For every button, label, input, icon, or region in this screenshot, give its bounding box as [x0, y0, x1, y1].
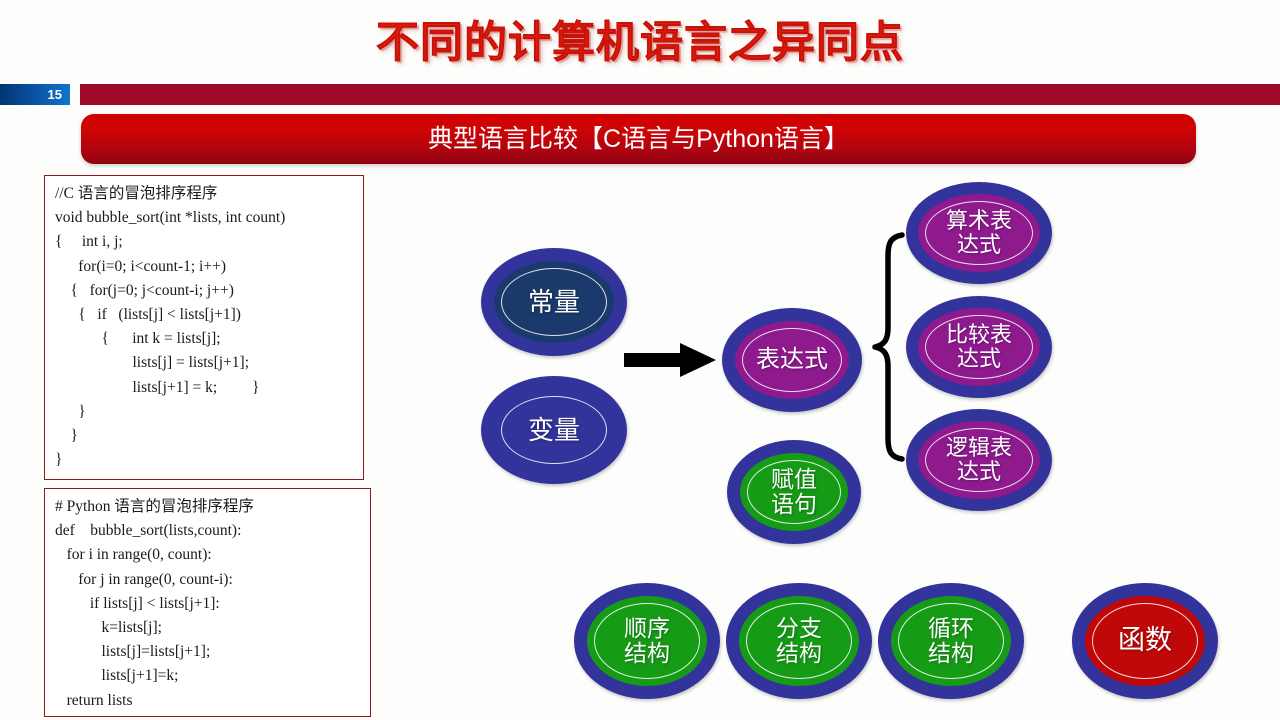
- node-logical-expression[interactable]: 逻辑表达式: [906, 409, 1052, 511]
- c-code-block: //C 语言的冒泡排序程序 void bubble_sort(int *list…: [44, 175, 364, 480]
- page-number-badge: 15: [0, 84, 70, 105]
- node-label: 变量: [524, 416, 584, 444]
- python-code-block: # Python 语言的冒泡排序程序 def bubble_sort(lists…: [44, 488, 371, 717]
- node-variable[interactable]: 变量: [481, 376, 627, 484]
- section-banner-label: 典型语言比较【C语言与Python语言】: [81, 114, 1196, 164]
- right-grouping-brace-icon: [872, 232, 910, 462]
- node-label: 常量: [524, 288, 584, 316]
- flow-arrow-right-icon: [624, 342, 716, 378]
- node-branch-structure[interactable]: 分支结构: [726, 583, 872, 699]
- node-loop-structure[interactable]: 循环结构: [878, 583, 1024, 699]
- node-label: 分支结构: [772, 616, 826, 666]
- node-assignment[interactable]: 赋值语句: [727, 440, 861, 544]
- node-label: 赋值语句: [767, 467, 821, 517]
- page-title: 不同的计算机语言之异同点: [0, 8, 1280, 70]
- node-label: 算术表达式: [942, 209, 1016, 257]
- node-label: 循环结构: [924, 616, 978, 666]
- node-comparison-expression[interactable]: 比较表达式: [906, 296, 1052, 398]
- header-accent-bar: [80, 84, 1280, 105]
- section-banner: 典型语言比较【C语言与Python语言】: [81, 114, 1196, 164]
- slide-canvas: 不同的计算机语言之异同点 15 典型语言比较【C语言与Python语言】 //C…: [0, 0, 1280, 720]
- node-label: 函数: [1114, 626, 1176, 655]
- node-sequence-structure[interactable]: 顺序结构: [574, 583, 720, 699]
- node-constant[interactable]: 常量: [481, 248, 627, 356]
- node-label: 逻辑表达式: [942, 436, 1016, 484]
- node-label: 表达式: [752, 347, 832, 373]
- node-expression[interactable]: 表达式: [722, 308, 862, 412]
- node-label: 顺序结构: [620, 616, 674, 666]
- node-label: 比较表达式: [942, 323, 1016, 371]
- node-function[interactable]: 函数: [1072, 583, 1218, 699]
- node-arithmetic-expression[interactable]: 算术表达式: [906, 182, 1052, 284]
